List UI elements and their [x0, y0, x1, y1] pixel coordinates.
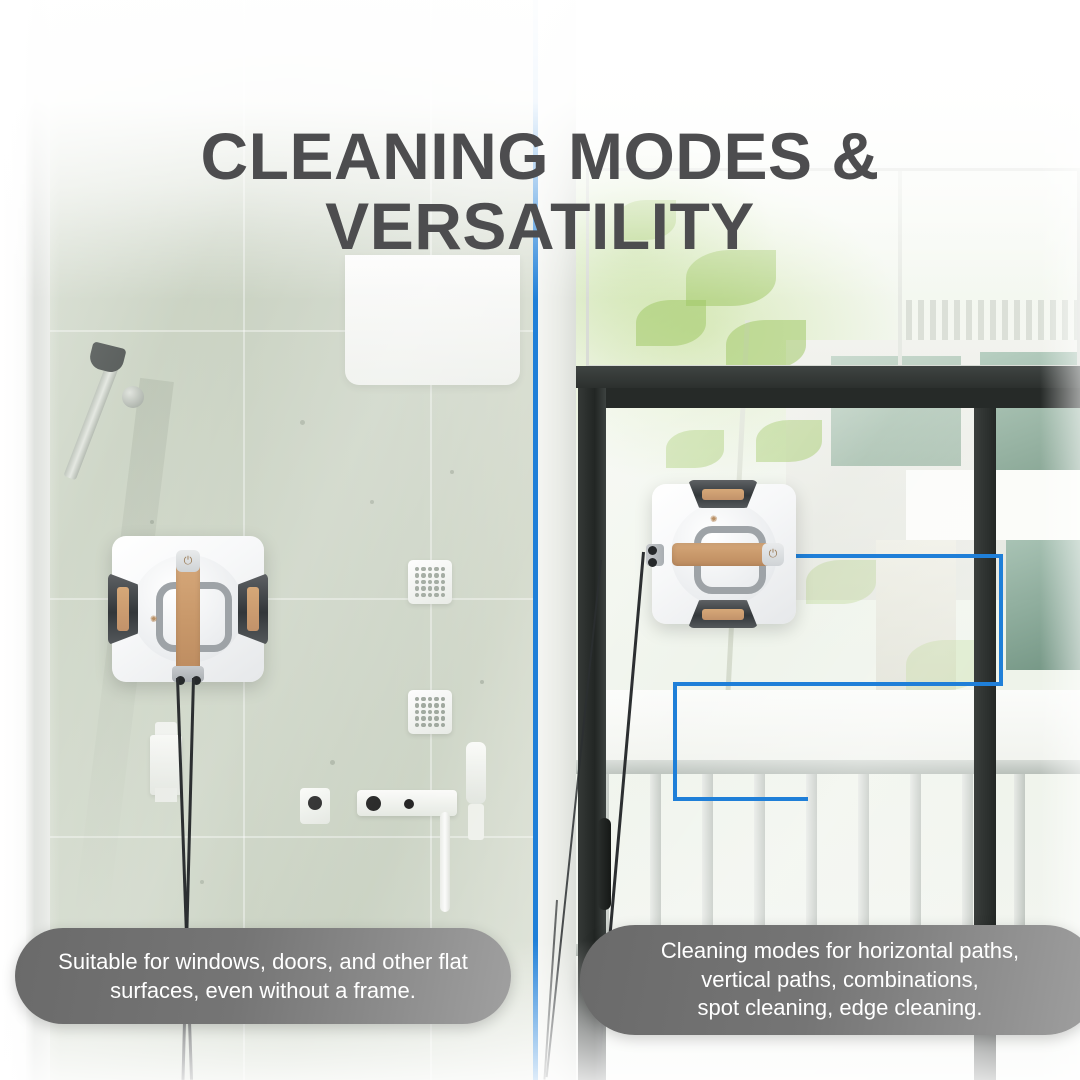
robot-side-module-right	[238, 573, 268, 645]
cable-plug	[648, 558, 657, 567]
path-segment-vertical	[673, 682, 677, 801]
title-line-1: CLEANING MODES &	[200, 119, 879, 193]
robot-right[interactable]: ⏻ ✺	[652, 484, 796, 624]
door-frame-top	[578, 388, 1080, 408]
robot-pad	[702, 489, 744, 500]
door-handle[interactable]	[598, 818, 611, 910]
path-segment-horizontal	[790, 554, 1003, 558]
robot-pad	[117, 587, 129, 631]
path-segment-horizontal	[673, 682, 1003, 686]
robot-side-module-top	[688, 480, 758, 508]
robot-left[interactable]: ⏻ ✺	[112, 536, 264, 682]
power-button[interactable]: ⏻	[762, 543, 784, 566]
title-line-2: VERSATILITY	[0, 192, 1080, 262]
brand-logo: ✺	[710, 514, 718, 525]
robot-side-module-left	[108, 573, 138, 645]
path-segment-vertical	[999, 554, 1003, 686]
cable-plug	[648, 546, 657, 555]
caption-right-line-2: vertical paths, combinations,	[661, 966, 1019, 995]
caption-pill-left: Suitable for windows, doors, and other f…	[15, 928, 511, 1024]
brand-logo: ✺	[150, 614, 158, 625]
robot-pad	[702, 609, 744, 620]
caption-left-line-1: Suitable for windows, doors, and other f…	[58, 947, 468, 976]
power-button[interactable]: ⏻	[176, 550, 200, 572]
product-feature-banner: ⏻ ✺	[0, 0, 1080, 1080]
robot-strap	[176, 560, 200, 674]
robot-pad	[247, 587, 259, 631]
caption-pill-right: Cleaning modes for horizontal paths, ver…	[580, 925, 1080, 1035]
robot-side-module-bottom	[688, 600, 758, 628]
caption-right-line-1: Cleaning modes for horizontal paths,	[661, 937, 1019, 966]
path-segment-horizontal	[673, 797, 808, 801]
door-head-sill	[576, 366, 1080, 388]
caption-left-line-2: surfaces, even without a frame.	[58, 976, 468, 1005]
page-title: CLEANING MODES & VERSATILITY	[0, 122, 1080, 262]
railing-baluster	[1014, 774, 1025, 949]
caption-right-line-3: spot cleaning, edge cleaning.	[661, 994, 1019, 1023]
